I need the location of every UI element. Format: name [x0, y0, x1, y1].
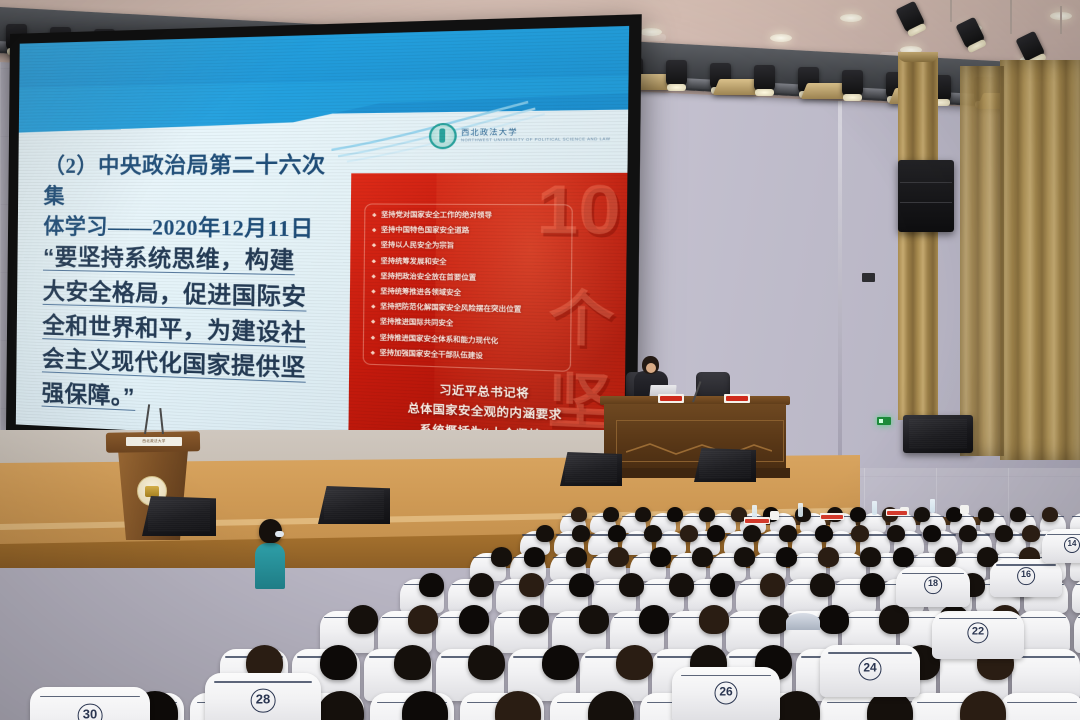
seat-number: 26	[715, 681, 738, 704]
slide-quote: “要坚持系统思维，构建大安全格局，促进国际安全和世界和平，为建设社会主义现代化国…	[42, 240, 343, 424]
audience-head	[542, 645, 579, 680]
adherence-item: ◆坚持以人民安全为宗旨	[372, 242, 567, 253]
audience-head	[819, 605, 849, 634]
audience-head	[692, 547, 713, 567]
audience-seat	[1000, 693, 1080, 720]
adherence-item-label: 坚持党对国家安全工作的绝对领导	[381, 211, 492, 220]
audience-head	[959, 525, 977, 542]
nameplate-left	[658, 394, 684, 403]
seat-number: 30	[78, 703, 103, 720]
stage-spotlight	[666, 60, 687, 86]
audience-head	[616, 645, 653, 680]
university-emblem-icon	[428, 123, 456, 149]
adherence-item-label: 坚持统筹推进各领域安全	[380, 288, 461, 298]
audience-cap-icon	[786, 613, 820, 630]
audience-head	[699, 605, 729, 634]
slide-university-logo: 西北政法大学 NORTHWEST UNIVERSITY OF POLITICAL…	[428, 121, 610, 149]
wall-bracket	[862, 273, 875, 282]
ceiling-downlight	[840, 14, 862, 22]
audience-head	[644, 525, 662, 542]
stage-spotlight	[754, 65, 775, 91]
ceiling-hanger-rod	[950, 0, 952, 22]
audience-head	[519, 573, 544, 597]
water-bottle	[798, 503, 803, 517]
diamond-bullet-icon: ◆	[371, 333, 375, 342]
seat-number: 24	[859, 657, 882, 680]
audience-head	[572, 525, 590, 542]
audience-head	[635, 507, 651, 522]
audience-head	[699, 507, 715, 522]
presentation-slide: 西北政法大学 NORTHWEST UNIVERSITY OF POLITICAL…	[16, 26, 629, 455]
diamond-bullet-icon: ◆	[372, 211, 376, 220]
audience-head	[348, 605, 378, 634]
adherence-item-label: 坚持中国特色国家安全道路	[381, 226, 469, 236]
adherence-item: ◆坚持推进国家安全体系和能力现代化	[371, 333, 566, 348]
logo-name-cn: 西北政法大学	[461, 127, 611, 136]
audience-head	[879, 605, 909, 634]
speaker-face	[646, 363, 656, 373]
audience-seat	[1074, 611, 1080, 653]
audience-head	[408, 605, 438, 634]
audience-head	[851, 525, 869, 542]
floor-subwoofer	[903, 415, 973, 453]
audience-head	[1042, 507, 1058, 522]
diamond-bullet-icon: ◆	[371, 287, 375, 296]
exit-sign-icon	[877, 417, 891, 425]
audience-head	[650, 547, 671, 567]
audience-head	[995, 525, 1013, 542]
adherence-item-label: 坚持统筹发展和安全	[380, 257, 446, 267]
adherence-item: ◆坚持中国特色国家安全道路	[372, 226, 567, 237]
numbered-seat: 26	[672, 667, 780, 720]
adherence-item: ◆坚持党对国家安全工作的绝对领导	[372, 211, 567, 221]
curtain-column	[898, 56, 938, 420]
numbered-seat: 28	[205, 673, 321, 720]
seat-number: 22	[967, 622, 988, 643]
audience-head	[468, 645, 505, 680]
audience-head	[760, 573, 785, 597]
water-bottle	[872, 501, 877, 515]
face-mask-icon	[275, 531, 284, 537]
audience-head	[667, 507, 683, 522]
audience-head	[860, 547, 881, 567]
delegate-namecard	[886, 509, 908, 516]
adherence-item: ◆坚持推进国际共同安全	[371, 318, 566, 332]
lectern-sign: 西北政法大学	[126, 437, 182, 446]
adherence-item-label: 坚持把防范化解国家安全风险摆在突出位置	[380, 303, 521, 315]
water-bottle	[930, 499, 935, 513]
nameplate-right	[724, 394, 750, 403]
seat-number: 16	[1017, 568, 1035, 586]
audience-head	[608, 547, 629, 567]
audience-head	[818, 547, 839, 567]
stage-spotlight	[842, 70, 863, 96]
audience-head	[491, 547, 512, 567]
line-array-speaker-icon	[898, 160, 954, 232]
audience-head	[603, 507, 619, 522]
side-curtain	[1000, 60, 1080, 460]
ceiling-hanger-rod	[1010, 0, 1012, 34]
audience-head	[639, 605, 669, 634]
audience-head	[710, 573, 735, 597]
audience-head	[935, 547, 956, 567]
tea-cup	[960, 505, 969, 514]
audience-head	[608, 525, 626, 542]
numbered-seat: 16	[990, 559, 1062, 597]
audience-head	[619, 573, 644, 597]
audience-head	[569, 573, 594, 597]
audience-seat	[1016, 611, 1070, 653]
numbered-seat: 24	[820, 645, 920, 697]
adherence-item-label: 坚持把政治安全放在首要位置	[380, 272, 476, 282]
side-curtain-fold	[960, 66, 1004, 456]
audience-head	[680, 525, 698, 542]
led-screen: 西北政法大学 NORTHWEST UNIVERSITY OF POLITICAL…	[6, 14, 642, 467]
seat-number: 18	[924, 577, 942, 595]
audience-head	[850, 507, 866, 522]
audience-head	[566, 547, 587, 567]
adherence-list: ◆坚持党对国家安全工作的绝对领导◆坚持中国特色国家安全道路◆坚持以人民安全为宗旨…	[363, 203, 573, 372]
audience-head	[669, 573, 694, 597]
audience-head	[759, 605, 789, 634]
ceiling-hanger-rod	[1060, 6, 1062, 34]
delegate-namecard	[820, 513, 844, 520]
adherence-item-label: 坚持推进国际共同安全	[380, 318, 453, 329]
logo-name-en: NORTHWEST UNIVERSITY OF POLITICAL SCIENC…	[461, 138, 611, 143]
audience-head	[887, 525, 905, 542]
numbered-seat: 14	[1042, 529, 1080, 563]
adherence-item-label: 坚持推进国家安全体系和能力现代化	[380, 333, 499, 345]
diamond-bullet-icon: ◆	[371, 303, 375, 312]
adherence-item: ◆坚持统筹推进各领域安全	[371, 287, 566, 300]
diamond-bullet-icon: ◆	[372, 257, 376, 266]
curtain-column-cap	[898, 52, 938, 62]
wall-corner-edge	[838, 40, 842, 460]
slide-title-line1: （2）中央政治局第二十六次集	[44, 150, 339, 214]
auditorium-photo: 西北政法大学 NORTHWEST UNIVERSITY OF POLITICAL…	[0, 0, 1080, 720]
adherence-item-label: 坚持加强国家安全干部队伍建设	[379, 349, 482, 361]
audience-head	[815, 525, 833, 542]
audience-head	[394, 645, 431, 680]
audience-area: 3028262422181614	[0, 455, 1080, 720]
diamond-bullet-icon: ◆	[372, 226, 376, 235]
numbered-seat: 30	[30, 687, 150, 720]
adherence-item: ◆坚持把防范化解国家安全风险摆在突出位置	[371, 303, 566, 316]
diamond-bullet-icon: ◆	[372, 242, 376, 251]
ceiling-downlight	[770, 34, 792, 42]
quote-line-1: “要坚持系统思维，构建	[43, 240, 343, 280]
audience-head	[707, 525, 725, 542]
adherence-item-label: 坚持以人民安全为宗旨	[381, 242, 455, 252]
numbered-seat: 18	[896, 567, 970, 607]
diamond-bullet-icon: ◆	[371, 348, 375, 357]
audience-head	[978, 507, 994, 522]
audience-head	[469, 573, 494, 597]
audience-head	[519, 605, 549, 634]
audience-head	[743, 525, 761, 542]
seat-number: 14	[1064, 537, 1080, 553]
adherence-item: ◆坚持把政治安全放在首要位置	[371, 272, 566, 284]
numbered-seat: 22	[932, 611, 1024, 659]
audience-seat	[1072, 579, 1080, 613]
audience-head	[579, 605, 609, 634]
ten-adherences-panel: 10 个 坚 持 ◆坚持党对国家安全工作的绝对领导◆坚持中国特色国家安全道路◆坚…	[348, 173, 629, 455]
delegate-namecard	[744, 517, 770, 524]
diamond-bullet-icon: ◆	[371, 272, 375, 281]
audience-head	[536, 525, 554, 542]
audience-head	[1010, 507, 1026, 522]
slide-title: （2）中央政治局第二十六次集 体学习——2020年12月11日	[43, 150, 338, 246]
audience-head	[734, 547, 755, 567]
audience-head	[860, 573, 885, 597]
diamond-bullet-icon: ◆	[371, 318, 375, 327]
audience-head	[914, 507, 930, 522]
audience-head	[419, 573, 444, 597]
audience-head	[779, 525, 797, 542]
audience-head	[571, 507, 587, 522]
audience-head	[923, 525, 941, 542]
audience-member-teal-jacket	[255, 543, 285, 589]
audience-head	[1022, 525, 1040, 542]
audience-head	[459, 605, 489, 634]
audience-head	[776, 547, 797, 567]
seat-number: 28	[251, 688, 276, 713]
adherence-item: ◆坚持加强国家安全干部队伍建设	[371, 348, 565, 363]
screen-surface: 西北政法大学 NORTHWEST UNIVERSITY OF POLITICAL…	[16, 26, 629, 455]
adherence-item: ◆坚持统筹发展和安全	[372, 257, 567, 269]
audience-head	[320, 645, 357, 680]
audience-head	[893, 547, 914, 567]
tea-cup	[770, 511, 779, 520]
audience-head	[524, 547, 545, 567]
audience-head	[810, 573, 835, 597]
